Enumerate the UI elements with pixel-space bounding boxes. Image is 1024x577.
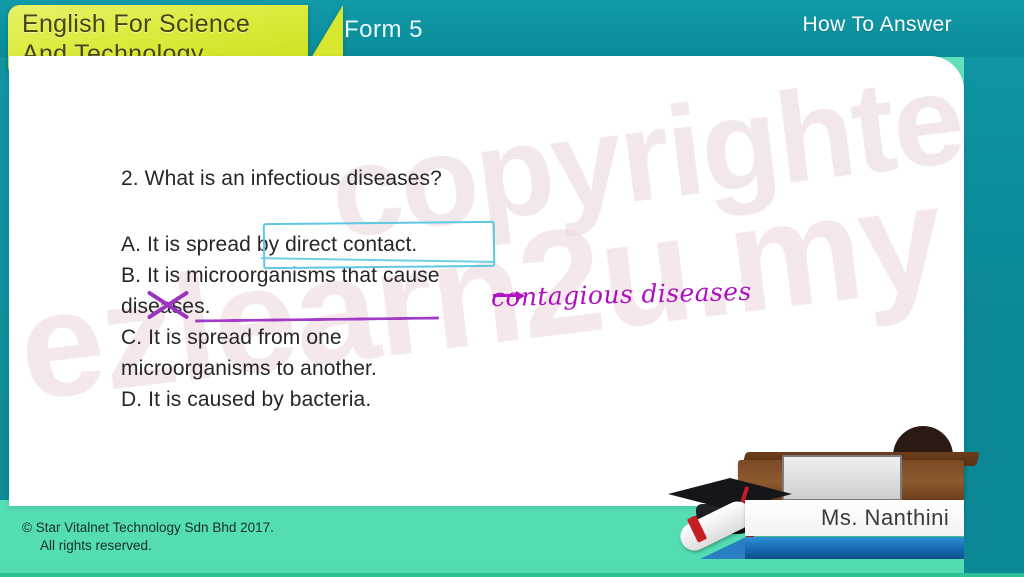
cross-out-mark-icon xyxy=(144,282,190,328)
option-c: C. It is spread from one xyxy=(121,322,761,353)
course-title-line-1: English For Science xyxy=(22,9,312,39)
teal-right-band xyxy=(964,0,1024,577)
form-label: Form 5 xyxy=(344,16,423,44)
copyright-line-2: All rights reserved. xyxy=(40,537,442,555)
option-d: D. It is caused by bacteria. xyxy=(121,384,761,415)
section-label: How To Answer xyxy=(802,13,952,37)
bottom-edge xyxy=(0,573,1024,577)
footer-copyright: © Star Vitalnet Technology Sdn Bhd 2017.… xyxy=(22,519,442,555)
option-c-cont: microorganisms to another. xyxy=(121,353,761,384)
slide-card: copyrighted ezlearn2u.my 2. What is an i… xyxy=(9,56,964,506)
teal-left-band xyxy=(0,0,9,500)
question-text: 2. What is an infectious diseases? xyxy=(121,168,761,189)
lectern-monitor xyxy=(782,455,902,501)
nameplate-wedge xyxy=(700,537,746,559)
copyright-line-1: © Star Vitalnet Technology Sdn Bhd 2017. xyxy=(22,519,442,537)
nameplate-blue-strip xyxy=(745,537,964,559)
presenter-nameplate: Ms. Nanthini xyxy=(745,500,964,536)
presenter-name: Ms. Nanthini xyxy=(821,505,949,531)
slide-stage: Form 5 How To Answer English For Science… xyxy=(0,0,1024,577)
